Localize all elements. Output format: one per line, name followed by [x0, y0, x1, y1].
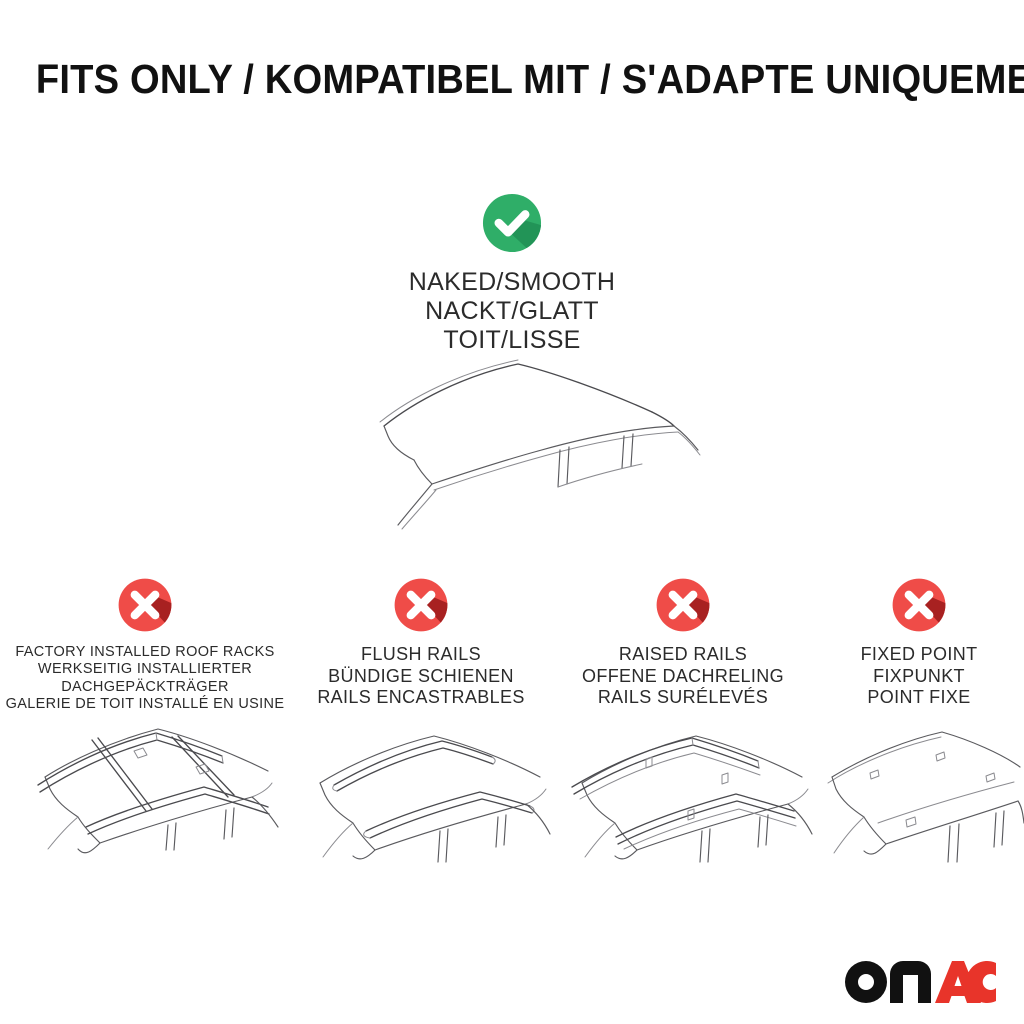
page-title: FITS ONLY / KOMPATIBEL MIT / S'ADAPTE UN… — [36, 58, 988, 101]
x-circle-icon — [115, 575, 175, 635]
omac-logo-o — [845, 961, 887, 1003]
check-circle-icon — [479, 190, 545, 256]
car-roof-flush-rails-illustration — [290, 727, 552, 857]
incompatible-label-fr: RAILS ENCASTRABLES — [294, 687, 548, 709]
incompatible-label-de-1: WERKSEITIG INSTALLIERTER — [4, 661, 286, 678]
incompatible-label-de: BÜNDIGE SCHIENEN — [294, 666, 548, 688]
x-circle-svg — [889, 575, 949, 635]
x-circle-svg — [653, 575, 713, 635]
check-circle-svg — [479, 190, 545, 256]
incompatible-item-raised-rails: RAISED RAILS OFFENE DACHRELING RAILS SUR… — [552, 575, 814, 709]
compatible-label-de: NACKT/GLATT — [0, 297, 1024, 326]
car-roof-factory-installed-roof-racks-illustration — [0, 715, 290, 845]
compatible-label-en: NAKED/SMOOTH — [0, 268, 1024, 297]
incompatible-label-fr: POINT FIXE — [818, 687, 1020, 709]
incompatible-label-en: FIXED POINT — [818, 644, 1020, 666]
header: FITS ONLY / KOMPATIBEL MIT / S'ADAPTE UN… — [0, 58, 1024, 101]
incompatible-labels: FLUSH RAILS BÜNDIGE SCHIENEN RAILS ENCAS… — [294, 644, 548, 709]
incompatible-item-flush-rails: FLUSH RAILS BÜNDIGE SCHIENEN RAILS ENCAS… — [290, 575, 552, 709]
car-roof-racks-svg — [0, 715, 290, 850]
car-roof-naked-smooth-illustration — [322, 350, 702, 530]
omac-logo-svg — [844, 960, 996, 1004]
x-circle-icon — [653, 575, 713, 635]
compatible-labels: NAKED/SMOOTH NACKT/GLATT TOIT/LISSE — [0, 268, 1024, 355]
incompatible-label-de-2: DACHGEPÄCKTRÄGER — [4, 679, 286, 696]
incompatible-labels: FIXED POINT FIXPUNKT POINT FIXE — [818, 644, 1020, 709]
incompatible-label-en: FLUSH RAILS — [294, 644, 548, 666]
car-roof-raised-rails-illustration — [552, 727, 814, 857]
incompatible-label-de: FIXPUNKT — [818, 666, 1020, 688]
fitment-infographic: FITS ONLY / KOMPATIBEL MIT / S'ADAPTE UN… — [0, 0, 1024, 1024]
incompatible-item-fixed-point: FIXED POINT FIXPUNKT POINT FIXE — [814, 575, 1024, 709]
x-circle-svg — [391, 575, 451, 635]
x-circle-icon — [391, 575, 451, 635]
incompatible-labels: FACTORY INSTALLED ROOF RACKS WERKSEITIG … — [4, 644, 286, 714]
car-roof-fixed-point-svg — [814, 727, 1024, 862]
incompatible-label-en: FACTORY INSTALLED ROOF RACKS — [4, 644, 286, 661]
x-circle-icon — [889, 575, 949, 635]
incompatible-label-de: OFFENE DACHRELING — [556, 666, 810, 688]
compatible-section: NAKED/SMOOTH NACKT/GLATT TOIT/LISSE — [0, 190, 1024, 355]
x-circle-svg — [115, 575, 175, 635]
omac-logo-m — [890, 961, 931, 1003]
incompatible-item-factory-installed-roof-racks: FACTORY INSTALLED ROOF RACKS WERKSEITIG … — [0, 575, 290, 714]
incompatible-label-en: RAISED RAILS — [556, 644, 810, 666]
car-roof-naked-smooth-svg — [322, 350, 702, 530]
car-roof-flush-rails-svg — [290, 727, 552, 862]
omac-logo — [844, 960, 996, 1004]
incompatible-label-fr: RAILS SURÉLEVÉS — [556, 687, 810, 709]
incompatible-label-fr: GALERIE DE TOIT INSTALLÉ EN USINE — [4, 696, 286, 713]
car-roof-raised-rails-svg — [552, 727, 814, 862]
car-roof-fixed-point-illustration — [814, 727, 1024, 857]
incompatible-section: FACTORY INSTALLED ROOF RACKS WERKSEITIG … — [0, 575, 1024, 714]
incompatible-labels: RAISED RAILS OFFENE DACHRELING RAILS SUR… — [556, 644, 810, 709]
